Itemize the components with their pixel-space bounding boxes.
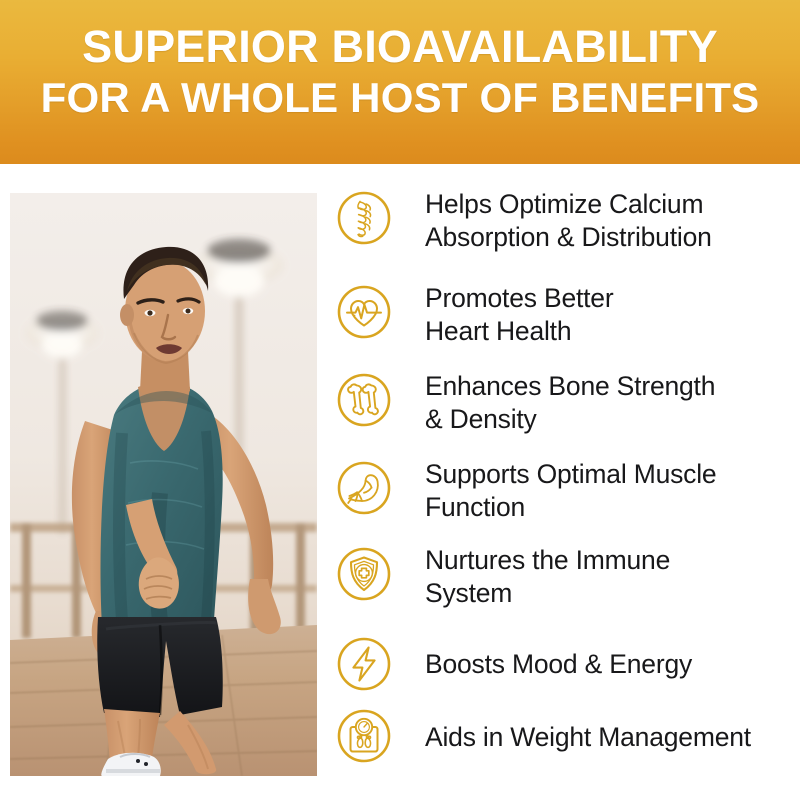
benefit-label: Promotes Better Heart Health [425,282,800,348]
shield-cross-icon [336,546,392,602]
benefit-label: Nurtures the Immune System [425,544,800,610]
benefit-item: Promotes Better Heart Health [336,284,800,348]
infographic-page: SUPERIOR BIOAVAILABILITY FOR A WHOLE HOS… [0,0,800,800]
benefit-item: Boosts Mood & Energy [336,636,800,692]
headline-secondary: FOR A WHOLE HOST OF BENEFITS [41,74,760,122]
benefit-item: Helps Optimize Calcium Absorption & Dist… [336,190,800,254]
benefit-item: Nurtures the Immune System [336,546,800,610]
runner-photo [10,193,317,776]
benefit-item: Enhances Bone Strength & Density [336,372,800,436]
benefit-item: Aids in Weight Management [336,708,800,764]
benefit-item: Supports Optimal Muscle Function [336,460,800,524]
lightning-bolt-icon [336,636,392,692]
weight-scale-icon [336,708,392,764]
bones-icon [336,372,392,428]
benefit-label: Enhances Bone Strength & Density [425,370,800,436]
headline-primary: SUPERIOR BIOAVAILABILITY [82,22,718,72]
heart-pulse-icon [336,284,392,340]
benefit-label: Supports Optimal Muscle Function [425,458,800,524]
benefit-label: Boosts Mood & Energy [425,648,800,681]
flexed-bicep-icon [336,460,392,516]
benefit-label: Helps Optimize Calcium Absorption & Dist… [425,188,800,254]
benefit-label: Aids in Weight Management [425,721,800,754]
header-banner-text-block: SUPERIOR BIOAVAILABILITY FOR A WHOLE HOS… [0,0,800,164]
benefits-list: Helps Optimize Calcium Absorption & Dist… [336,190,800,782]
header-banner: SUPERIOR BIOAVAILABILITY FOR A WHOLE HOS… [0,0,800,164]
runner-photo-illustration [10,193,317,776]
spine-icon [336,190,392,246]
